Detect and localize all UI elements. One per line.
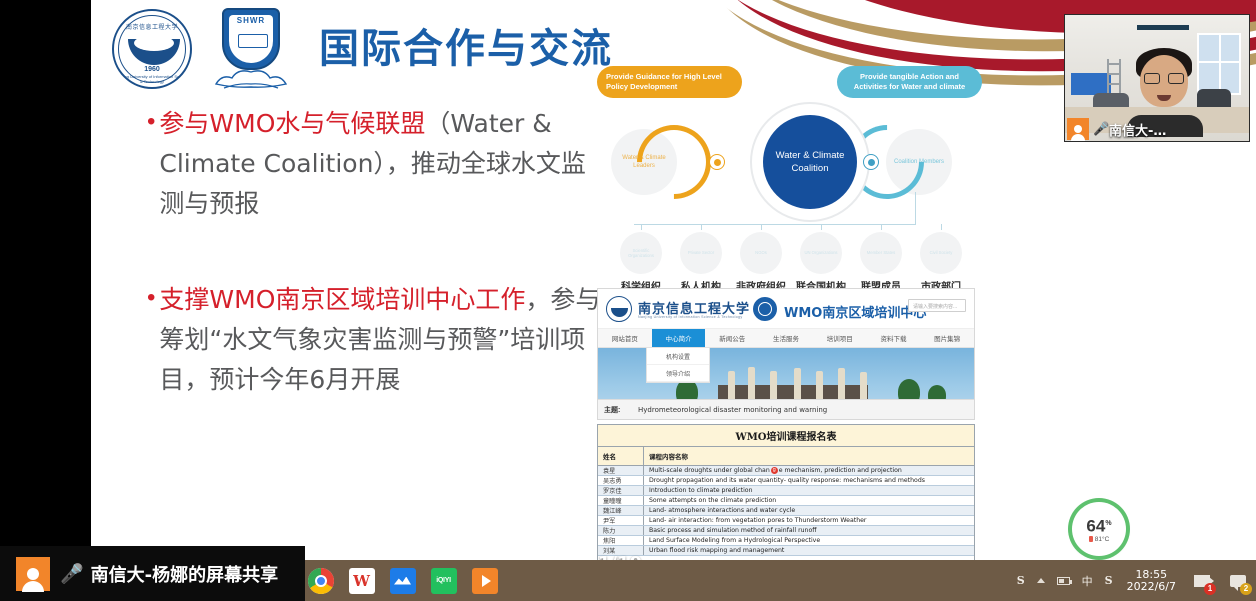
wmo-training-center-website-screenshot: 南京信息工程大学 Nanjing University of Informati… (597, 288, 975, 420)
cell-course: Urban flood risk mapping and management (643, 546, 974, 555)
screen-share-tray-icon[interactable]: 1 (1190, 569, 1214, 593)
nav-item-home[interactable]: 网站首页 (598, 329, 652, 347)
cell-name: 魏江峰 (598, 506, 643, 515)
leaf-ngos: NGOs 非政府组织 (731, 224, 791, 293)
cell-course: Land- atmosphere interactions and water … (643, 506, 974, 515)
cell-course: Introduction to climate prediction (643, 486, 974, 495)
share-banner-text: 南信大-杨娜的屏幕共享 (91, 561, 278, 587)
table-title: WMO培训课程报名表 (598, 425, 974, 447)
table-row: 尹军 Land- air interaction: from vegetatio… (598, 516, 974, 526)
pill-tangible-action: Provide tangible Action and Activities f… (837, 66, 982, 98)
shwr-logo-icon: SHWR 2011 (208, 6, 294, 92)
table-row: 魏江峰 Land- atmosphere interactions and wa… (598, 506, 974, 516)
website-search-input[interactable]: 请输入要搜索内容... (908, 299, 966, 312)
temp-widget-temperature: 81°C (1089, 536, 1110, 543)
taskbar-app-google-chrome[interactable] (300, 560, 341, 601)
cell-course: Drought propagation and its water quanti… (643, 476, 974, 485)
clock-date: 2022/6/7 (1127, 581, 1176, 593)
screen-share-banner: 🎤 南信大-杨娜的屏幕共享 (0, 546, 305, 601)
nav-item-services[interactable]: 生活服务 (759, 329, 813, 347)
microphone-icon[interactable]: 🎤 (60, 562, 84, 586)
nuist-logo-year: 1960 (114, 66, 190, 73)
red-mark-badge: g (771, 467, 778, 474)
cell-course: Land Surface Modeling from a Hydrologica… (643, 536, 974, 545)
microphone-icon[interactable]: 🎤 (1093, 121, 1109, 137)
cell-name: 吴志勇 (598, 476, 643, 485)
leaf-circle-label: Civil Society (920, 232, 962, 274)
nuist-small-logo-icon (606, 296, 632, 322)
nuist-logo-cn: 南京信息工程大学 (114, 22, 190, 31)
table-row: 罗京佳 Introduction to climate prediction (598, 486, 974, 496)
water-climate-coalition-diagram: Provide Guidance for High Level Policy D… (597, 60, 982, 292)
cell-name: 尹军 (598, 516, 643, 525)
nav-item-programs[interactable]: 培训项目 (813, 329, 867, 347)
clock-time: 18:55 (1127, 569, 1176, 581)
header-name: 姓名 (598, 451, 643, 461)
website-university-en: Nanjing University of Information Scienc… (638, 315, 742, 319)
nuist-logo-icon: 南京信息工程大学 1960 Nanjing University of Info… (112, 9, 192, 89)
leaf-circle-label: Member States (860, 232, 902, 274)
leaf-private-sector: Private Sector 私人机构 (671, 224, 731, 293)
glasses-icon (1144, 73, 1184, 84)
cloud-ornament-icon (208, 64, 294, 90)
taskbar-clock[interactable]: 18:55 2022/6/7 (1127, 569, 1176, 593)
nuist-logo-en: Nanjing University of Information Scienc… (114, 74, 190, 84)
shwr-logo-year: 2011 (224, 56, 278, 63)
bullet-item-1: • 参与WMO水与气候联盟（Water & Climate Coalition）… (147, 104, 602, 224)
window (1197, 33, 1241, 95)
submenu-item-leader[interactable]: 领导介绍 (647, 365, 709, 382)
shelf (1107, 59, 1121, 93)
table-row: 吴志勇 Drought propagation and its water qu… (598, 476, 974, 486)
video-name-bar: 🎤 南信大-… (1065, 117, 1249, 141)
cell-course: Land- air interaction: from vegetation p… (643, 516, 974, 525)
subject-value: Hydrometeorological disaster monitoring … (638, 406, 827, 414)
diagram-leaf-row: Scientific Organizations 科学组织 Private Se… (611, 224, 971, 293)
sogou-input-icon-1[interactable]: S (1017, 574, 1025, 587)
taskbar-app-iqiyi[interactable]: iQIYI (423, 560, 464, 601)
leaf-member-states: Member States 联盟成员 (851, 224, 911, 293)
table-row: 袁星 Multi-scale droughts under global cha… (598, 466, 974, 476)
table-row: 童瞳瞳 Some attempts on the climate predict… (598, 496, 974, 506)
slide-title: 国际合作与交流 (319, 16, 613, 74)
bullet-text: 支撑WMO南京区域培训中心工作，参与筹划“水文气象灾害监测与预警”培训项目，预计… (159, 280, 602, 400)
website-subject-row: 主题: Hydrometeorological disaster monitor… (598, 399, 974, 419)
battery-icon[interactable] (1057, 577, 1070, 585)
node-orange-icon (709, 154, 725, 170)
person-icon (16, 557, 50, 591)
table-row: 焦阳 Land Surface Modeling from a Hydrolog… (598, 536, 974, 546)
bullet-text: 参与WMO水与气候联盟（Water & Climate Coalition），推… (159, 104, 602, 224)
cell-name: 焦阳 (598, 536, 643, 545)
show-hidden-icons-button[interactable] (1037, 578, 1045, 583)
ime-language-indicator[interactable]: 中 (1082, 573, 1093, 589)
website-center-title: WMO南京区域培训中心 (784, 302, 926, 321)
cell-course: Multi-scale droughts under global change… (643, 466, 974, 475)
taskbar-app-wps-office[interactable]: W (341, 560, 382, 601)
participant-video-tile[interactable]: 🎤 南信大-… (1064, 14, 1250, 142)
screen-share-badge: 1 (1204, 583, 1216, 595)
wmo-course-registration-table: WMO培训课程报名表 姓名 课程内容名称 袁星 Multi-scale drou… (597, 424, 975, 565)
chat-tray-icon[interactable]: 2 (1226, 569, 1250, 593)
table-row: 陈力 Basic process and simulation method o… (598, 526, 974, 536)
participant-name: 南信大-… (1109, 120, 1166, 139)
table-row: 刘某 Urban flood risk mapping and manageme… (598, 546, 974, 556)
cell-course: Some attempts on the climate prediction (643, 496, 974, 505)
core-water-climate-coalition: Water & Climate Coalition (763, 115, 857, 209)
bullet-item-2: • 支撑WMO南京区域培训中心工作，参与筹划“水文气象灾害监测与预警”培训项目，… (147, 280, 602, 400)
battery-icon (1089, 536, 1093, 542)
wmo-logo-icon (753, 297, 777, 321)
bullet-1-highlight: 参与WMO水与气候联盟 (159, 109, 425, 138)
blue-furniture (1071, 73, 1111, 95)
cell-course: Basic process and simulation method of r… (643, 526, 974, 535)
sogou-input-icon-2[interactable]: S (1105, 574, 1113, 587)
temp-widget-percent: 64% (1086, 515, 1111, 535)
leaf-circle-label: Scientific Organizations (620, 232, 662, 274)
system-temp-widget[interactable]: 64% 81°C (1072, 502, 1126, 556)
submenu-item-org[interactable]: 机构设置 (647, 348, 709, 365)
nav-item-downloads[interactable]: 资料下载 (867, 329, 921, 347)
chat-badge: 2 (1240, 583, 1252, 595)
pill-policy-guidance: Provide Guidance for High Level Policy D… (597, 66, 742, 98)
subject-label: 主题: (598, 405, 638, 415)
shwr-logo-text: SHWR (224, 16, 278, 25)
leaf-circle-label: NGOs (740, 232, 782, 274)
header-course: 课程内容名称 (643, 447, 974, 465)
nav-item-gallery[interactable]: 图片集锦 (920, 329, 974, 347)
taskbar-app-media-player[interactable] (464, 560, 505, 601)
website-header: 南京信息工程大学 Nanjing University of Informati… (598, 289, 974, 329)
cell-name: 童瞳瞳 (598, 496, 643, 505)
bullet-dot: • (147, 280, 155, 400)
cell-name: 陈力 (598, 526, 643, 535)
slide-bullet-list: • 参与WMO水与气候联盟（Water & Climate Coalition）… (147, 104, 602, 408)
leaf-un-organizations: UN Organizations 联合国机构 (791, 224, 851, 293)
ceiling-bar (1137, 25, 1189, 30)
bullet-2-highlight: 支撑WMO南京区域培训中心工作 (159, 285, 525, 314)
website-nav: 网站首页 中心简介 新闻公告 生活服务 培训项目 资料下载 图片集锦 (598, 329, 974, 348)
cell-name: 罗京佳 (598, 486, 643, 495)
leaf-circle-label: Private Sector (680, 232, 722, 274)
website-submenu: 机构设置 领导介绍 (646, 348, 710, 383)
bullet-dot: • (147, 104, 155, 224)
nav-item-about[interactable]: 中心简介 (652, 329, 706, 347)
nav-item-news[interactable]: 新闻公告 (705, 329, 759, 347)
person-icon (1067, 118, 1089, 140)
node-cyan-icon (863, 154, 879, 170)
cell-name: 袁星 (598, 466, 643, 475)
desktop-screen: 南京信息工程大学 1960 Nanjing University of Info… (0, 0, 1256, 601)
leaf-circle-label: UN Organizations (800, 232, 842, 274)
connector-vertical (915, 192, 916, 224)
taskbar-app-blue-app[interactable] (382, 560, 423, 601)
system-tray: S 中 S 18:55 2022/6/7 1 2 (1011, 560, 1256, 601)
leaf-scientific-organizations: Scientific Organizations 科学组织 (611, 224, 671, 293)
table-header-row: 姓名 课程内容名称 (598, 447, 974, 466)
leaf-civil-society: Civil Society 市政部门 (911, 224, 971, 293)
